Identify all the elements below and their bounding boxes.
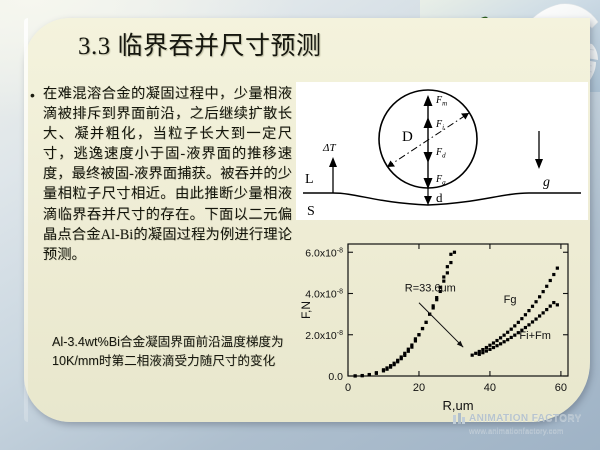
- y-tick-label: 4.0x10-8: [305, 289, 343, 301]
- gravity-label: g: [543, 175, 550, 190]
- page-title: 3.3 临界吞并尺寸预测: [78, 26, 408, 62]
- liquid-phase-label: L: [305, 172, 314, 187]
- bullet-paragraph: • 在难混溶合金的凝固过程中，少量相液滴被排斥到界面前沿，之后继续扩散长大、凝并…: [30, 84, 292, 265]
- y-axis-label: F,N: [299, 301, 313, 319]
- series-label-fg: Fg: [504, 294, 517, 306]
- x-tick-label: 20: [413, 382, 425, 394]
- x-tick-label: 0: [345, 382, 351, 394]
- diameter-label: D: [402, 129, 413, 145]
- y-tick-label: 0.0: [328, 371, 343, 383]
- series-Fg: [353, 253, 558, 378]
- animation-factory-watermark: ANIMATION FACTORY www.animationfactory.c…: [452, 412, 600, 442]
- factory-logo-icon: [452, 412, 466, 425]
- force-balance-diagram: D Fm Fi Fd Fg d: [296, 82, 588, 220]
- presentation-slide: 3.3 临界吞并尺寸预测 • 在难混溶合金的凝固过程中，少量相液滴被排斥到界面前…: [0, 0, 600, 450]
- force-vs-radius-chart: 02040600.02.0x10-84.0x10-86.0x10-8R,umF,…: [296, 232, 580, 416]
- series-label-fi-fm: Fi+Fm: [519, 330, 550, 342]
- y-tick-label: 2.0x10-8: [305, 330, 343, 342]
- temp-gradient-label: ΔT: [322, 142, 336, 154]
- bullet-marker: •: [30, 84, 35, 265]
- y-tick-label: 6.0x10-8: [305, 247, 343, 259]
- series-Fi+Fm: [353, 251, 558, 378]
- gap-label: d: [436, 190, 443, 205]
- figure-caption: Al-3.4wt%Bi合金凝固界面前沿温度梯度为10K/mm时第二相液滴受力随尺…: [52, 333, 300, 371]
- chart-annotation: R=33.6um: [405, 282, 456, 294]
- x-axis-label: R,um: [442, 398, 473, 413]
- watermark-url: www.animationfactory.com: [452, 425, 600, 436]
- watermark-brand: ANIMATION FACTORY: [469, 413, 582, 424]
- solid-phase-label: S: [307, 204, 315, 219]
- x-tick-label: 40: [484, 382, 496, 394]
- x-tick-label: 60: [555, 382, 567, 394]
- body-text: 在难混溶合金的凝固过程中，少量相液滴被排斥到界面前沿，之后继续扩散长大、凝并粗化…: [43, 84, 292, 265]
